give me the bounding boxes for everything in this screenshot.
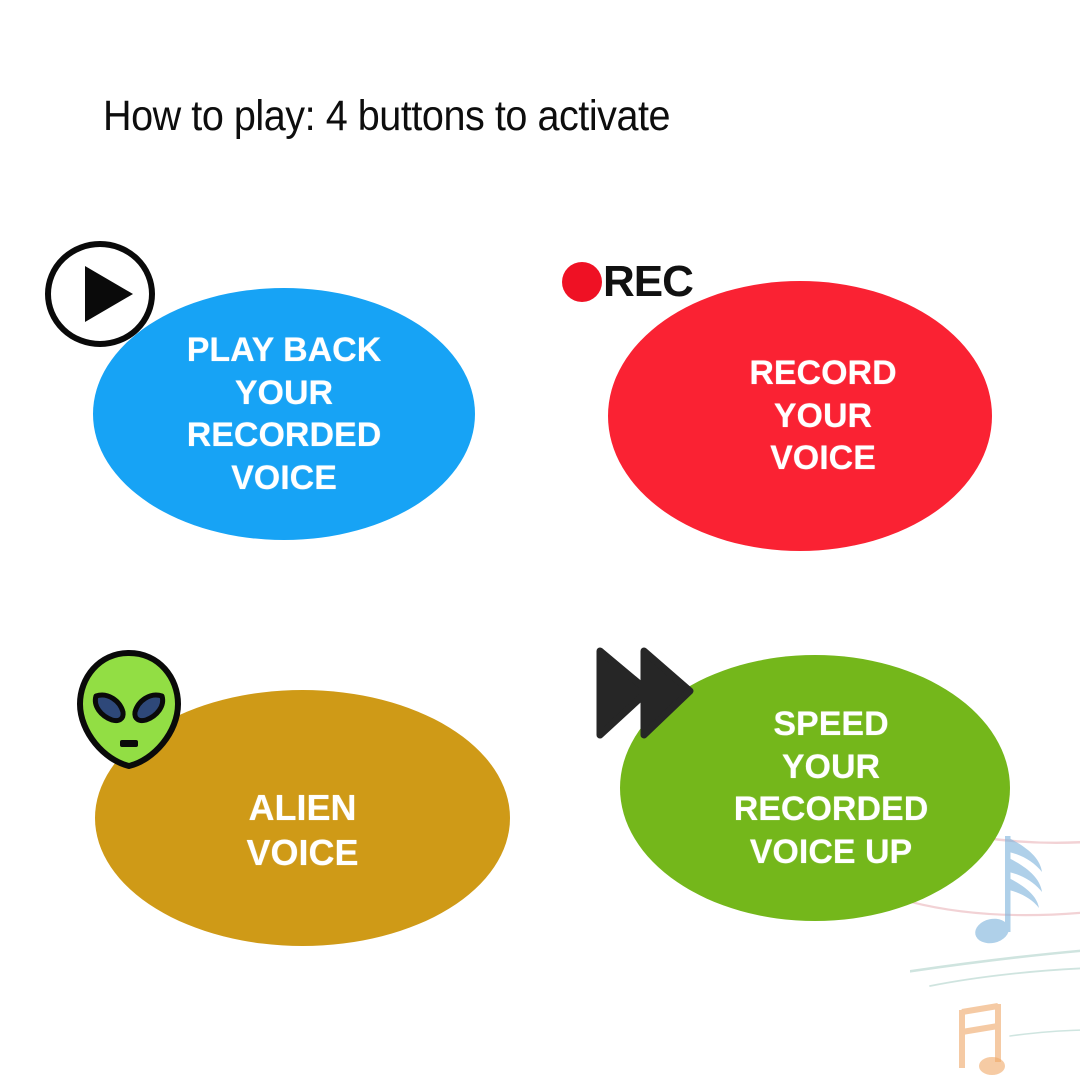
label-line: YOUR bbox=[187, 372, 382, 415]
slide-canvas: How to play: 4 buttons to activate bbox=[0, 0, 1080, 1080]
rec-icon-label: REC bbox=[603, 260, 693, 304]
rec-icon[interactable]: REC bbox=[562, 258, 712, 306]
rec-dot-icon bbox=[562, 262, 602, 302]
label-line: PLAY BACK bbox=[187, 329, 382, 372]
label-line: ALIEN bbox=[246, 785, 358, 830]
label-line: SPEED bbox=[734, 703, 929, 746]
page-title: How to play: 4 buttons to activate bbox=[103, 92, 670, 141]
record-button-label: RECORD YOUR VOICE bbox=[689, 352, 910, 480]
label-line: RECORDED bbox=[187, 414, 382, 457]
label-line: YOUR bbox=[734, 746, 929, 789]
label-line: YOUR bbox=[749, 395, 896, 438]
label-line: VOICE bbox=[187, 457, 382, 500]
playback-button-label: PLAY BACK YOUR RECORDED VOICE bbox=[173, 329, 396, 499]
label-line: VOICE bbox=[246, 830, 358, 875]
label-line: RECORDED bbox=[734, 788, 929, 831]
record-button[interactable]: RECORD YOUR VOICE bbox=[608, 281, 992, 551]
fast-forward-icon[interactable] bbox=[594, 645, 694, 741]
label-line: VOICE UP bbox=[734, 831, 929, 874]
alien-head-icon[interactable] bbox=[74, 648, 184, 770]
speed-up-button-label: SPEED YOUR RECORDED VOICE UP bbox=[688, 703, 943, 873]
alien-voice-button-label: ALIEN VOICE bbox=[232, 761, 372, 875]
play-circle-icon[interactable] bbox=[42, 238, 158, 350]
label-line: VOICE bbox=[749, 437, 896, 480]
label-line: RECORD bbox=[749, 352, 896, 395]
